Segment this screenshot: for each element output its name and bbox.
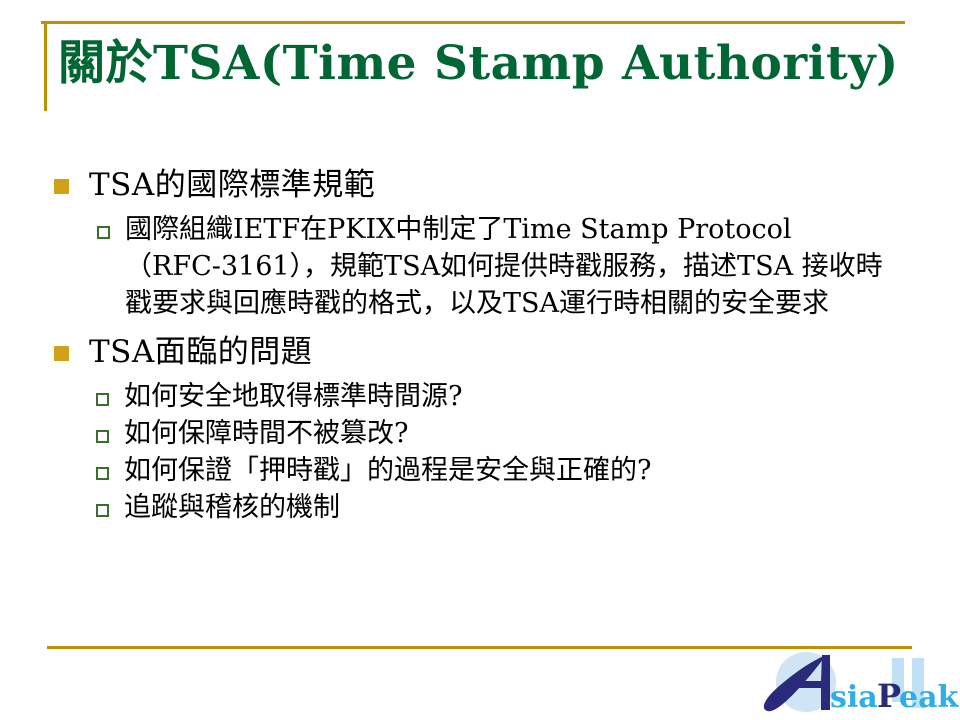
bullet-level2: 國際組織IETF在PKIX中制定了Time Stamp Protocol（RFC… (0, 211, 960, 322)
title-frame-top-rule (41, 21, 905, 24)
square-filled-bullet-icon (54, 179, 69, 194)
page-title: 關於TSA(Time Stamp Authority) (58, 35, 918, 93)
bullet-level2: 如何保證「押時戳」的過程是安全與正確的? (0, 452, 960, 489)
square-filled-bullet-icon (54, 346, 69, 361)
square-hollow-bullet-icon (96, 504, 109, 517)
bullet-level2: 如何保障時間不被篡改? (0, 415, 960, 452)
section-item-text: 如何保證「押時戳」的過程是安全與正確的? (124, 452, 651, 489)
bullet-level2: 追蹤與稽核的機制 (0, 489, 960, 526)
slide: 關於TSA(Time Stamp Authority) TSA的國際標準規範 國… (0, 0, 960, 720)
bullet-level2: 如何安全地取得標準時間源? (0, 378, 960, 415)
asiapeak-logo: sia P eak (760, 650, 960, 720)
square-hollow-bullet-icon (96, 393, 109, 406)
section-item-text: 如何安全地取得標準時間源? (124, 378, 462, 415)
section-item-text: 追蹤與稽核的機制 (124, 489, 340, 526)
logo-wordmark-p: P (877, 677, 901, 715)
square-hollow-bullet-icon (97, 226, 110, 239)
section-heading: TSA的國際標準規範 (89, 165, 375, 205)
square-hollow-bullet-icon (96, 430, 109, 443)
logo-wordmark-sia: sia (830, 680, 878, 715)
footer-rule (47, 646, 912, 649)
square-hollow-bullet-icon (96, 467, 109, 480)
section-heading: TSA面臨的問題 (89, 332, 312, 372)
section-item-text: 國際組織IETF在PKIX中制定了Time Stamp Protocol（RFC… (125, 211, 885, 322)
spacer (0, 322, 960, 332)
bullet-level1: TSA的國際標準規範 (0, 165, 960, 205)
title-frame-left-rule (44, 21, 47, 111)
bullet-level1: TSA面臨的問題 (0, 332, 960, 372)
logo-wordmark-eak: eak (899, 680, 960, 715)
slide-body: TSA的國際標準規範 國際組織IETF在PKIX中制定了Time Stamp P… (0, 165, 960, 635)
section-item-text: 如何保障時間不被篡改? (124, 415, 408, 452)
